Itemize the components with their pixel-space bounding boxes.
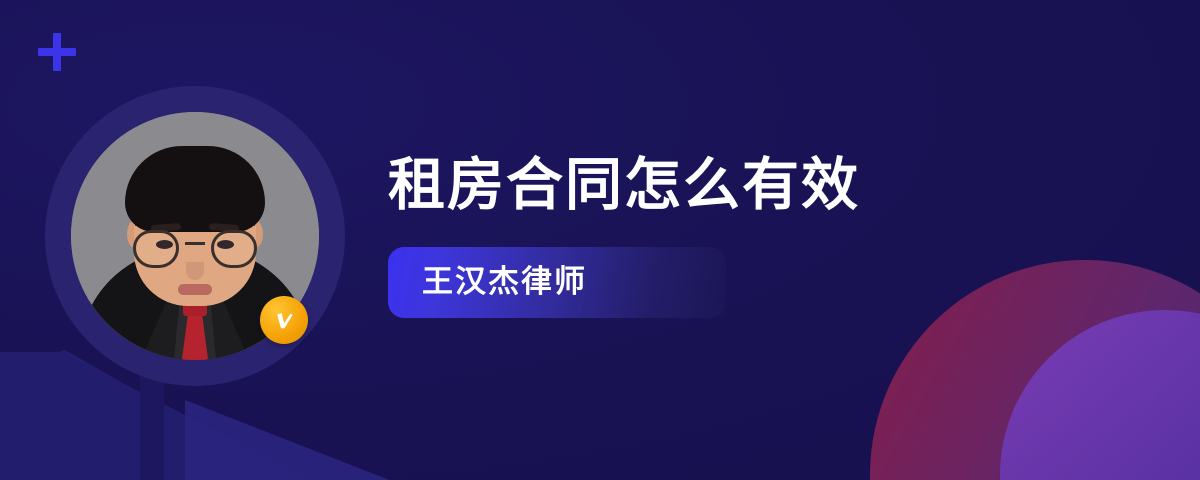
glasses-bridge	[185, 242, 205, 245]
decorative-band-bottom	[140, 372, 164, 480]
banner-content: 租房合同怎么有效 王汉杰律师	[388, 152, 1028, 318]
author-name-badge[interactable]: 王汉杰律师	[388, 247, 726, 318]
plus-icon	[38, 33, 76, 71]
avatar	[45, 86, 345, 386]
glasses-lens-left	[133, 230, 179, 268]
article-cover-banner: 租房合同怎么有效 王汉杰律师	[0, 0, 1200, 480]
portrait-hair	[125, 146, 265, 232]
portrait-mouth	[178, 284, 212, 295]
glasses-lens-right	[211, 230, 257, 268]
portrait-nose	[186, 262, 204, 280]
page-title: 租房合同怎么有效	[388, 152, 1028, 219]
verified-v-icon	[260, 296, 308, 344]
